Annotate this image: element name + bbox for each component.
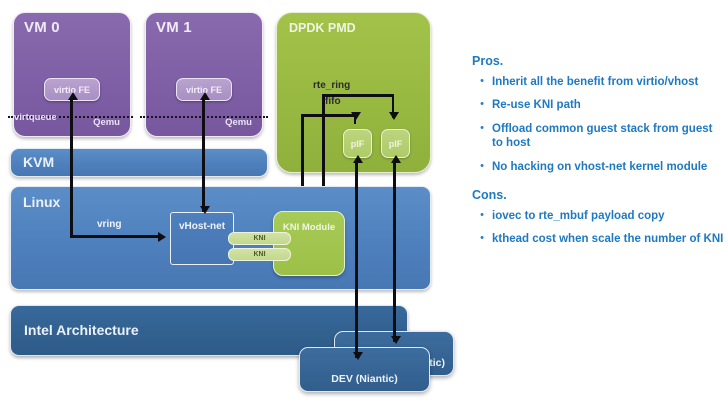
pif0-dev-arrow-up (353, 155, 363, 163)
pif-port-0: pIF (343, 129, 372, 158)
kvm-layer: KVM (10, 148, 268, 177)
virtqueue-label: virtqueue (14, 112, 57, 123)
ring-arrow-into-pif1 (389, 112, 399, 120)
intel-architecture-label: Intel Architecture (24, 322, 139, 338)
pros-item-text: No hacking on vhost-net kernel module (492, 160, 724, 174)
pros-cons-panel: Pros. • Inherit all the benefit from vir… (472, 54, 724, 256)
vring-arrow-to-vhost (158, 232, 166, 242)
kni-pill-1: KNI (228, 248, 291, 261)
cons-item-text: kthead cost when scale the number of KNI (492, 232, 724, 246)
bullet-icon: • (472, 75, 492, 89)
ring-arrow-into-pif0 (351, 112, 361, 120)
pif0-dev-line (355, 160, 358, 358)
vm0-title: VM 0 (24, 19, 60, 36)
cons-item: • kthead cost when scale the number of K… (472, 232, 724, 246)
ring-mid-horizontal (301, 114, 356, 117)
dpdk-pmd-title: DPDK PMD (289, 21, 356, 35)
pros-item: • No hacking on vhost-net kernel module (472, 160, 724, 174)
bullet-icon: • (472, 209, 492, 223)
vring-label: vring (97, 219, 121, 230)
pros-item: • Offload common guest stack from guest … (472, 122, 724, 151)
kvm-label: KVM (23, 154, 54, 170)
vm0-qemu-label: Qemu (93, 117, 120, 128)
dev-niantic-front: DEV (Niantic) (299, 347, 430, 392)
bullet-icon: • (472, 232, 492, 246)
cons-item-text: iovec to rte_mbuf payload copy (492, 209, 724, 223)
vm1-qemu-label: Qemu (225, 117, 252, 128)
vm1-vhost-arrow-up (200, 92, 210, 100)
bullet-icon: • (472, 160, 492, 174)
ring-top-horizontal (322, 94, 394, 97)
vhost-net-label: vHost-net (171, 221, 233, 232)
pros-item: • Inherit all the benefit from virtio/vh… (472, 75, 724, 89)
vring-horizontal (70, 235, 160, 238)
pif1-dev-arrow-up (391, 155, 401, 163)
bullet-icon: • (472, 98, 492, 112)
pif-port-1: pIF (381, 129, 410, 158)
pros-item: • Re-use KNI path (472, 98, 724, 112)
linux-label: Linux (23, 194, 60, 210)
vring-arrow-to-virtio-fe (68, 92, 78, 100)
vm1-vhost-line (202, 97, 205, 212)
pros-item-text: Offload common guest stack from guest to… (492, 122, 724, 151)
vm1-title: VM 1 (156, 19, 192, 36)
bullet-icon: • (472, 122, 492, 151)
pros-item-text: Re-use KNI path (492, 98, 724, 112)
cons-title: Cons. (472, 188, 724, 202)
pif0-dev-arrow-down (353, 352, 363, 360)
vhost-net-block: vHost-net (170, 212, 234, 265)
vring-vertical (70, 97, 73, 237)
pif1-dev-arrow-down (391, 336, 401, 344)
pros-item-text: Inherit all the benefit from virtio/vhos… (492, 75, 724, 89)
pros-title: Pros. (472, 54, 724, 68)
vm1-vhost-arrow-down (200, 206, 210, 214)
dev-niantic-front-label: DEV (Niantic) (300, 373, 429, 385)
kni-pill-0: KNI (228, 232, 291, 245)
diagram-canvas: VM 0 Qemu virtio FE VM 1 Qemu virtio FE … (0, 0, 728, 408)
cons-item: • iovec to rte_mbuf payload copy (472, 209, 724, 223)
rte-ring-label: rte_ring (313, 80, 350, 91)
pif1-dev-line (393, 160, 396, 342)
fifo-label: fifo (325, 96, 341, 107)
